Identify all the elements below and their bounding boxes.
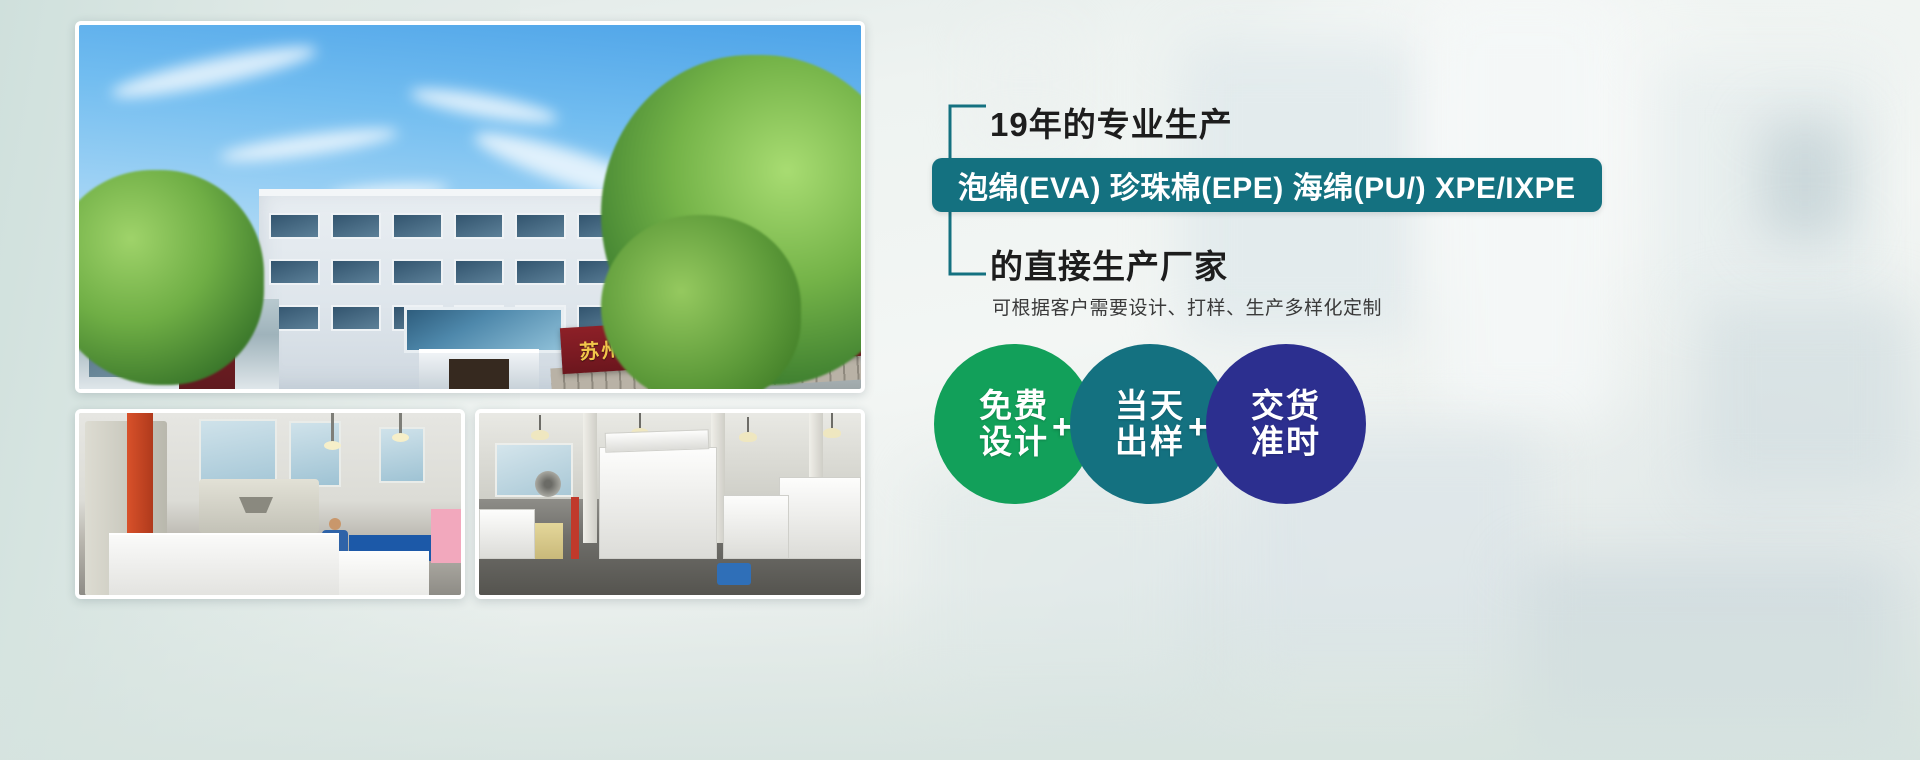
badge-same-day-sample-line2: 出样 <box>1115 424 1185 460</box>
badge-group: 免费 设计 + 当天 出样 + 交货 准时 <box>924 344 1444 504</box>
foam-cutting-machine <box>199 479 319 533</box>
tree-left <box>79 170 264 385</box>
banner-stage: 苏州五周泡绵制品有限公司 <box>0 0 1920 760</box>
photo-main-building: 苏州五周泡绵制品有限公司 <box>75 21 865 393</box>
plus-separator-2: + <box>1188 408 1208 447</box>
photo-workshop <box>75 409 465 599</box>
product-pill-text: 泡绵(EVA) 珍珠棉(EPE) 海绵(PU/) XPE/IXPE <box>958 163 1576 207</box>
plus-separator-1: + <box>1052 408 1072 447</box>
badge-on-time-delivery-line2: 准时 <box>1251 424 1321 460</box>
photo-warehouse <box>475 409 865 599</box>
badge-free-design-line1: 免费 <box>979 388 1049 424</box>
badge-same-day-sample-line1: 当天 <box>1115 388 1185 424</box>
badge-on-time-delivery: 交货 准时 <box>1206 344 1366 504</box>
foam-bale <box>599 447 717 559</box>
headline-top: 19年的专业生产 <box>990 98 1233 146</box>
headline-bottom: 的直接生产厂家 <box>990 240 1228 288</box>
banner-content: 19年的专业生产 泡绵(EVA) 珍珠棉(EPE) 海绵(PU/) XPE/IX… <box>912 0 1920 760</box>
tree-right-lower <box>601 215 801 389</box>
product-pill: 泡绵(EVA) 珍珠棉(EPE) 海绵(PU/) XPE/IXPE <box>932 158 1602 212</box>
badge-free-design-line2: 设计 <box>979 424 1049 460</box>
photo-collage: 苏州五周泡绵制品有限公司 <box>75 21 865 599</box>
foam-sheet-stack <box>109 533 339 595</box>
subline-description: 可根据客户需要设计、打样、生产多样化定制 <box>992 293 1382 320</box>
badge-on-time-delivery-line1: 交货 <box>1251 388 1321 424</box>
